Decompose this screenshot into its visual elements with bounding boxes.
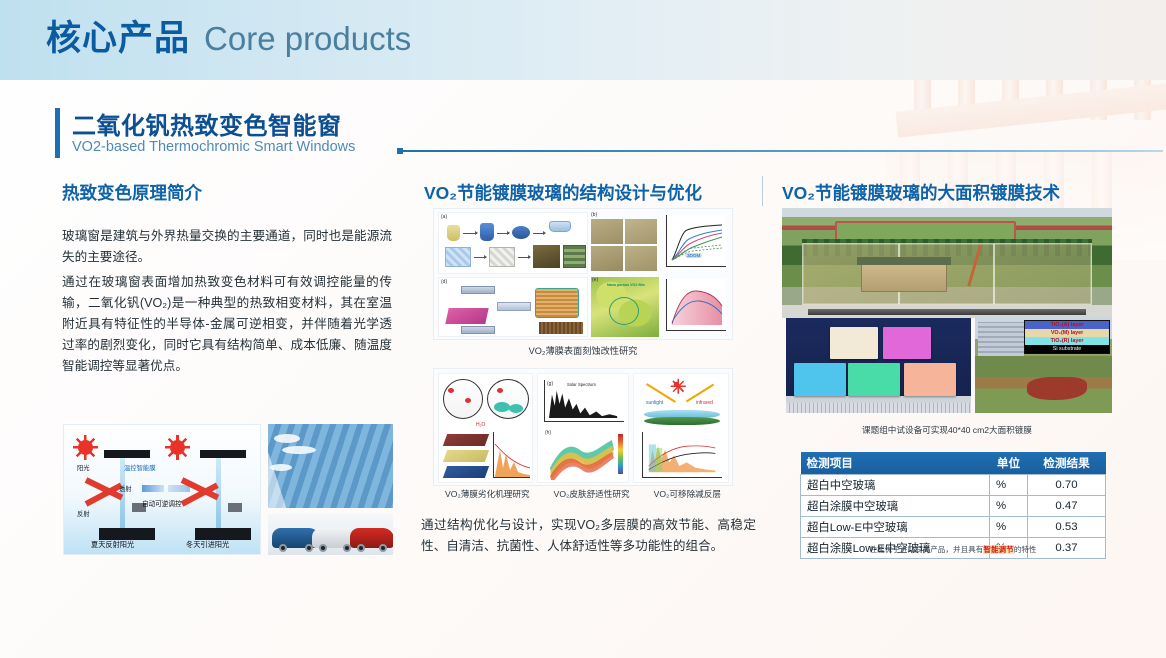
label-transmit: 透射 [119,484,132,493]
cell-item: 超白涂膜中空玻璃 [801,496,990,517]
footnote-after: 的特性 [1014,545,1037,554]
section-title-cn: 二氧化钒热致变色智能窗 [72,106,342,141]
figure-3d-surface: (h) [544,430,624,480]
sun-icon-summer [78,440,93,455]
figure-degradation: H₂O [438,373,533,483]
page-title-cn: 核心产品 [46,19,190,58]
middle-figure-2-captions: VO₂薄膜劣化机理研究 VO₂皮肤舒适性研究 VO₂可移除减反层 [433,488,733,500]
right-photo-caption: 课题组中试设备可实现40*40 cm2大面积镀膜 [782,424,1112,436]
figure-caption-skin-comfort: VO₂皮肤舒适性研究 [554,488,630,500]
colored-glass-samples-photo [786,318,971,413]
figure-solar-spectrum: (g) Solar Spectrum Wavelength, nm (h) [537,373,629,483]
middle-figure-1-caption: VO₂薄膜表面刻蚀改性研究 [433,343,733,357]
glass-building-photo [268,424,393,508]
footnote-highlight: 智能调节 [983,545,1013,554]
test-results-table: 检测项目 单位 检测结果 超白中空玻璃 % 0.70 超白涂膜中空玻璃 % 0.… [800,452,1106,559]
column-heading-right: VO₂节能镀膜玻璃的大面积镀膜技术 [782,180,1060,205]
slide-footer: 京芯新材料 JINGXIN NANO MATERIALS [0,596,1166,658]
figure-antireflection: sunlight infrared [633,373,729,483]
table-header-row: 检测项目 单位 检测结果 [801,452,1106,475]
cell-value: 0.53 [1028,517,1106,538]
caption-summer: 夏天反射阳光 [91,540,134,550]
column-divider [762,176,763,206]
page-title-en: Core products [204,20,411,57]
campus-photo-with-layer-stack: TiO₂(A) layer VO₂(M) layer TiO₂(R) layer… [975,318,1112,413]
ruler [786,403,971,413]
section-title-en: VO2-based Thermochromic Smart Windows [72,139,355,155]
cell-item: 超白Low-E中空玻璃 [801,517,990,538]
figure-panel-e-label: (e) [592,277,598,283]
cell-value: 0.47 [1028,496,1106,517]
layer-si-substrate: Si substrate [1025,345,1109,353]
figure-panel-b-label: (b) [591,212,597,218]
car-red [350,528,393,548]
sunlight-label: sunlight [646,400,663,406]
middle-paragraph: 通过结构优化与设计，实现VO₂多层膜的高效节能、高稳定性、自清洁、抗菌性、人体舒… [421,515,756,557]
section-accent-bar [55,108,60,158]
figure-caption-antireflection: VO₂可移除减反层 [654,488,721,500]
water-molecule-label: H₂O [476,422,485,428]
figure-panel-a-label: (a) [441,214,447,220]
cell-value: 0.70 [1028,475,1106,496]
page-title: 核心产品Core products [46,16,411,62]
layer-tio2-a: TiO₂(A) layer [1025,321,1109,329]
column-heading-left: 热致变色原理简介 [62,180,202,205]
infrared-label: infrared [696,400,713,406]
layer-tio2-r: TiO₂(R) layer [1025,337,1109,345]
table-header-unit: 单位 [990,452,1028,475]
figure-panel-d-label: (d) [441,279,447,285]
leaf-film-label: Nano porous VO2 film [607,283,653,287]
leaf-photo: (e) Nano porous VO2 film [591,277,659,337]
table-footnote: 性能优于进口同类产品，并且具有智能调节的特性 [800,544,1106,555]
layer-stack-diagram: TiO₂(A) layer VO₂(M) layer TiO₂(R) layer… [1024,320,1110,354]
figure-panel-h-label: (h) [545,430,551,436]
sun-icon-winter [170,440,185,455]
table-header-result: 检测结果 [1028,452,1106,475]
layer-vo2-m: VO₂(M) layer [1025,329,1109,337]
table-row: 超白中空玻璃 % 0.70 [801,475,1106,496]
cell-unit: % [990,475,1028,496]
slide-header: 核心产品Core products [0,0,1166,80]
transmittance-plot: 3DOM Wavelength(nm) [666,215,726,267]
middle-figure-2: H₂O (g) Solar Spectrum Wavelength, nm [433,368,733,486]
section-rule [403,150,1163,152]
cell-item: 超白中空玻璃 [801,475,990,496]
table-row: 超白Low-E中空玻璃 % 0.53 [801,517,1106,538]
left-photo-block: 阳光 反射 温控智能膜 透射 夏天反射阳光 自动可逆调控 冬天引进阳光 [63,424,393,555]
smart-window-diagram: 阳光 反射 温控智能膜 透射 夏天反射阳光 自动可逆调控 冬天引进阳光 [63,424,261,555]
plot-marker-3dom: 3DOM [685,253,702,258]
middle-figure-1: (a) (b) [433,208,733,340]
cell-unit: % [990,517,1028,538]
figure-caption-degradation: VO₂薄膜劣化机理研究 [445,488,530,500]
cell-unit: % [990,496,1028,517]
arrow-left-icon [142,485,164,492]
column-heading-middle: VO₂节能镀膜玻璃的结构设计与优化 [424,180,702,205]
label-reflect: 反射 [77,509,90,518]
label-sunlight-summer: 阳光 [77,463,90,472]
large-area-coating-photo [782,208,1112,318]
footnote-before: 性能优于进口同类产品，并且具有 [869,545,983,554]
cars-photo [268,514,393,555]
table-row: 超白涂膜中空玻璃 % 0.47 [801,496,1106,517]
table-header-item: 检测项目 [801,452,990,475]
caption-winter: 冬天引进阳光 [186,540,229,550]
slide-canvas: 核心产品Core products 二氧化钒热致变色智能窗 VO2-based … [0,0,1166,658]
left-paragraph-1: 玻璃窗是建筑与外界热量交换的主要通道，同时也是能源流失的主要途径。 [62,226,392,268]
label-smart-film: 温控智能膜 [124,463,155,472]
section-title-block: 二氧化钒热致变色智能窗 VO2-based Thermochromic Smar… [55,106,1115,162]
label-auto-control: 自动可逆调控 [142,498,182,508]
sun-icon-small [674,382,679,387]
left-paragraph-2: 通过在玻璃窗表面增加热致变色材料可有效调控能量的传输，二氧化钒(VO₂)是一种典… [62,272,392,377]
